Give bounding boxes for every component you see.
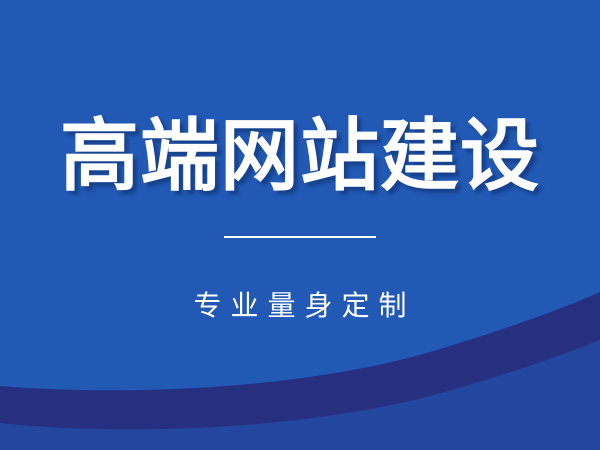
banner-headline: 高端网站建设 (0, 116, 600, 195)
divider-container (0, 236, 600, 238)
promo-banner: 高端网站建设 专业量身定制 (0, 0, 600, 450)
divider-line (224, 236, 376, 238)
banner-subheadline: 专业量身定制 (0, 292, 600, 320)
banner-content: 高端网站建设 专业量身定制 (0, 0, 600, 450)
